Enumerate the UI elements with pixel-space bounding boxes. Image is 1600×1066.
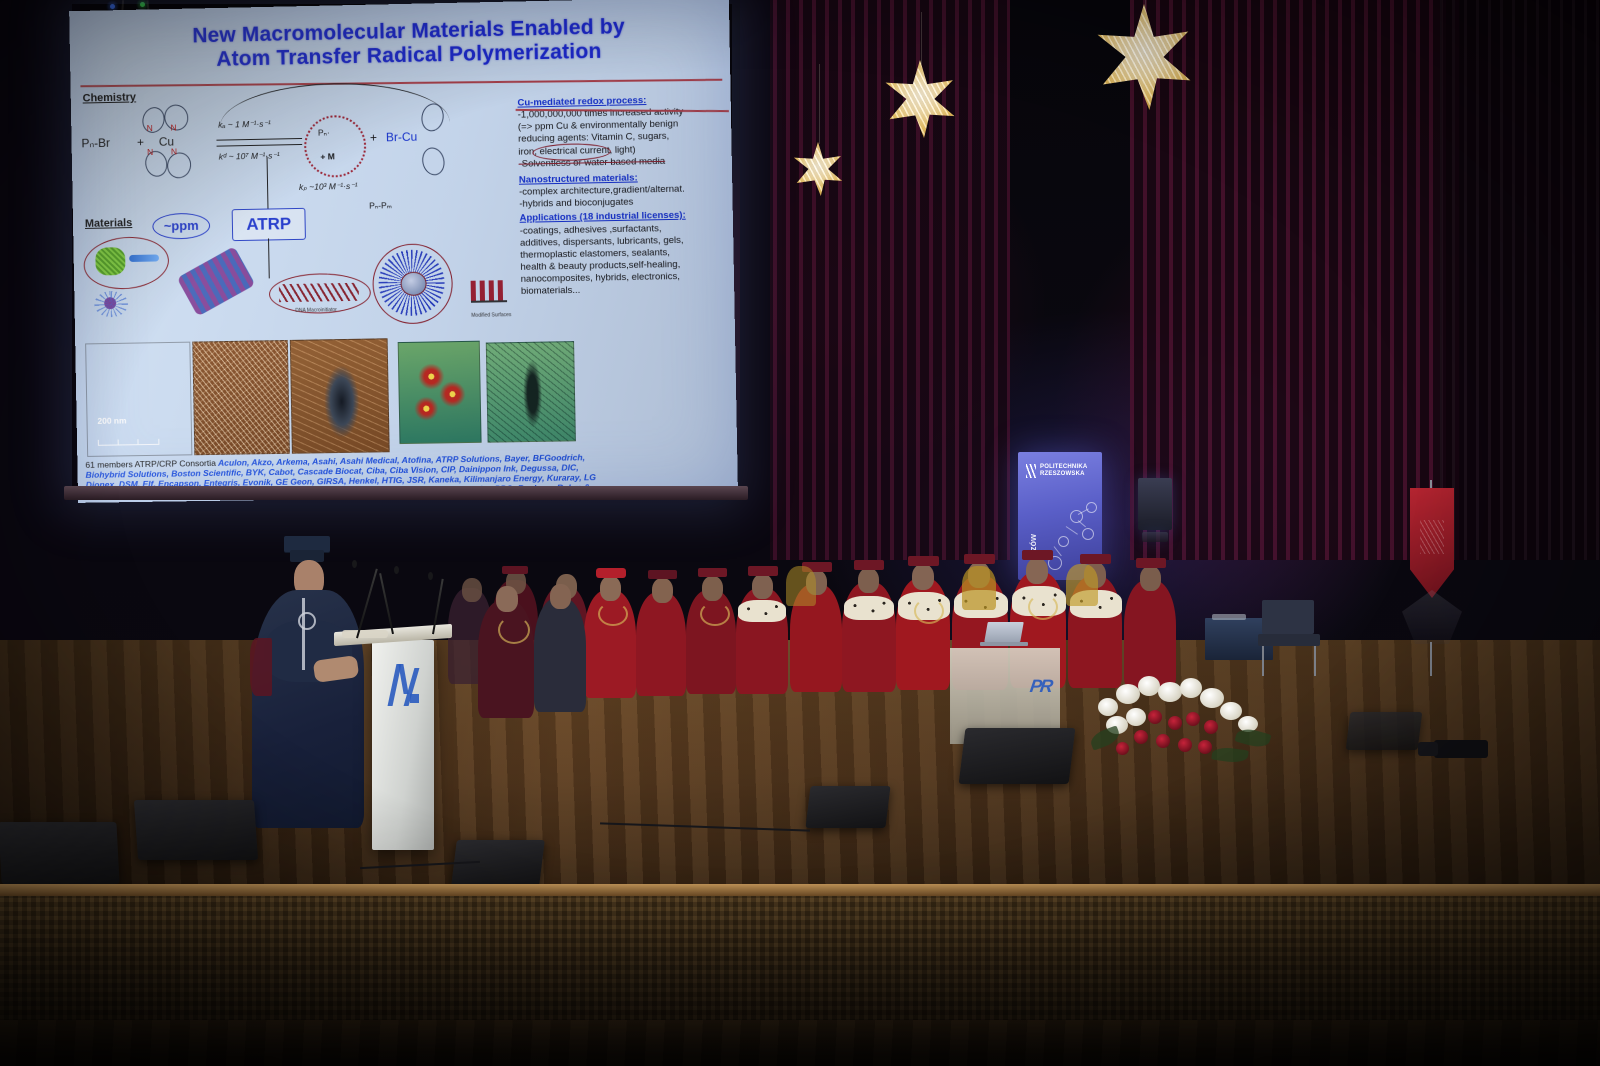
ppm-annotation: ~ppm: [152, 213, 210, 240]
stage-monitor-speaker-far-right: [1346, 712, 1423, 750]
star-lantern-medium: [880, 60, 962, 142]
slide-title: New Macromolecular Materials Enabled by …: [109, 13, 710, 73]
text-block-applications: Applications (18 industrial licenses): -…: [519, 209, 728, 298]
circled-electrical-current: iron, electrical current, light): [518, 144, 635, 158]
star-lantern-large: [1090, 0, 1200, 110]
caption-modified-surfaces: Modified Surfaces: [471, 312, 511, 319]
stage-chair: [1256, 600, 1328, 676]
line-array-speaker-sub: [1142, 532, 1168, 542]
eq-copper-bromide: Br-Cu: [386, 130, 418, 145]
podium-logo: [388, 664, 422, 708]
laptop[interactable]: [978, 622, 1030, 648]
stage-monitor-speaker-center: [959, 728, 1076, 784]
banner-title: POLITECHNIKA RZESZOWSKA: [1040, 464, 1096, 478]
afm-image-blade: [290, 338, 390, 453]
speaker-at-podium: [246, 528, 386, 828]
fluorescence-image-dots: [398, 341, 482, 444]
line-array-speaker: [1138, 478, 1172, 530]
table-papers: [1212, 614, 1246, 620]
floral-arrangement: [1086, 668, 1286, 768]
stage-curtain-far-right: [1440, 0, 1600, 560]
wall-panel-left: [0, 0, 80, 640]
podium-notes: [342, 630, 388, 638]
eq-radical: Pₙ·: [318, 127, 330, 138]
screen-bottom-bar: [64, 486, 748, 500]
rate-constant-kp: kₚ ~10³ M⁻¹·s⁻¹: [299, 181, 358, 193]
star-lantern-small: [790, 142, 848, 200]
afm-image-particles: 200 nm: [85, 342, 192, 457]
floor-speaker-edge: [0, 822, 120, 884]
presentation-slide: New Macromolecular Materials Enabled by …: [69, 0, 738, 503]
floor-speaker-far-left: [134, 800, 258, 860]
ceremonial-flag: [1398, 480, 1468, 680]
eq-plus: +: [137, 135, 144, 149]
university-logo-mark: [1026, 464, 1036, 478]
fluorescence-image-strand: [486, 341, 576, 443]
section-label-chemistry: Chemistry: [83, 91, 137, 104]
slide-text-column: Cu-mediated redox process: -1,000,000,00…: [517, 93, 732, 292]
text-block-nanostructured: Nanostructured materials: -complex archi…: [519, 171, 727, 212]
rate-constant-kd: kᵈ ~ 10⁷ M⁻¹·s⁻¹: [219, 150, 280, 162]
wall-panel-mid: [740, 0, 770, 560]
atrp-center-box: ATRP: [232, 208, 306, 241]
afm-image-fibers: [192, 340, 290, 455]
side-lectern-logo: PR: [1029, 676, 1053, 697]
eq-monomer: + M: [320, 151, 335, 161]
video-camera: [1434, 740, 1488, 758]
section-label-materials: Materials: [85, 217, 133, 230]
conference-hall-photo: New Macromolecular Materials Enabled by …: [0, 0, 1600, 1066]
text-block-redox: Cu-mediated redox process: -1,000,000,00…: [517, 93, 726, 170]
caption-dna-macroinitiator: DNA Macroinitiator: [295, 307, 337, 314]
title-divider: [80, 79, 722, 87]
stage-edge: [0, 884, 1600, 896]
projection-screen: New Macromolecular Materials Enabled by …: [72, 4, 732, 498]
eq-dead-chain: Pₙ-Pₘ: [369, 200, 392, 211]
eq-polymer-bromide: Pₙ-Br: [81, 136, 110, 151]
stage-monitor-speaker-right: [805, 786, 890, 828]
